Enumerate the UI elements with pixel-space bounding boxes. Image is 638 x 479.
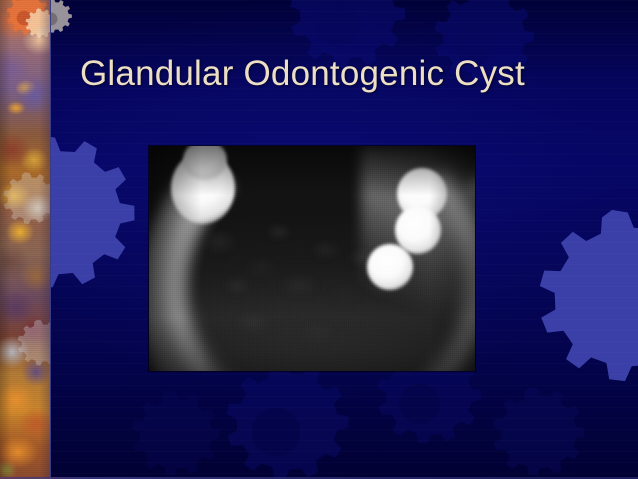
decorative-side-strip (0, 0, 51, 479)
presentation-slide: Glandular Odontogenic Cyst (0, 0, 638, 479)
slide-title: Glandular Odontogenic Cyst (80, 52, 600, 96)
strip-shading (0, 0, 50, 479)
radiograph-image (149, 146, 475, 371)
radiograph-edge-falloff (149, 146, 475, 371)
